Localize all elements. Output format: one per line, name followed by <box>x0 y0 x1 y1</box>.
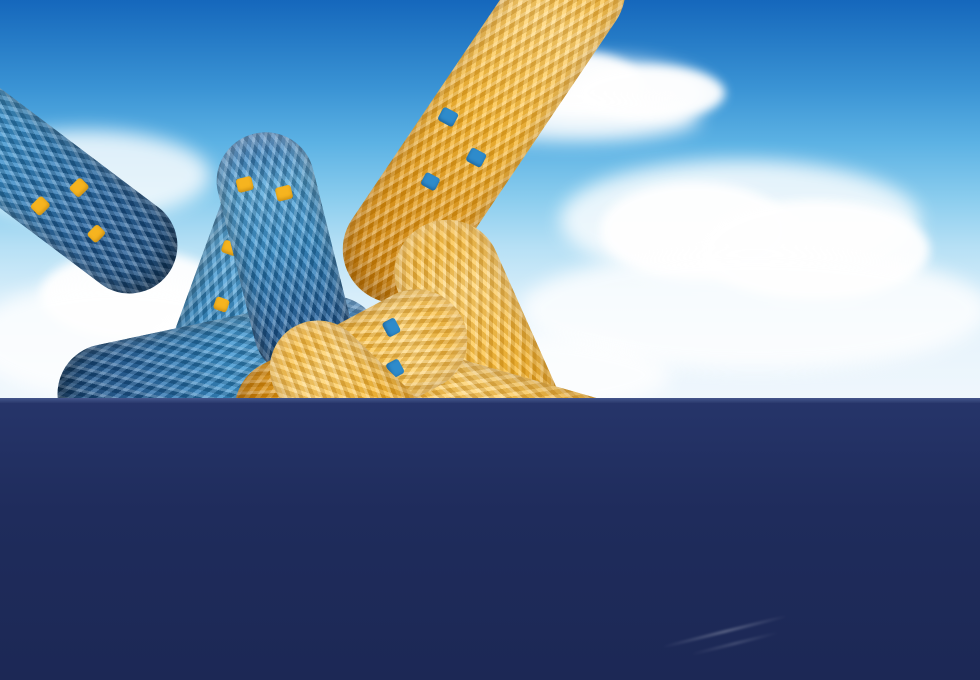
poster-root: TECH 共 赢 ® F A N T E <box>0 0 980 680</box>
band-top-edge <box>0 398 980 403</box>
rope-dash <box>381 317 401 338</box>
rope-dash <box>235 176 254 193</box>
rope-dash <box>69 177 90 198</box>
rope-dash <box>420 172 441 192</box>
rope-dash <box>437 106 459 127</box>
rope-dash <box>275 184 294 201</box>
rope-dash <box>213 296 231 313</box>
rope-dash <box>86 224 106 244</box>
rope-dash <box>465 147 487 168</box>
rope-knot-sky-image <box>0 0 980 398</box>
rope-dash <box>30 195 51 216</box>
info-band: TECH 共 赢 ® F A N T E <box>0 398 980 680</box>
